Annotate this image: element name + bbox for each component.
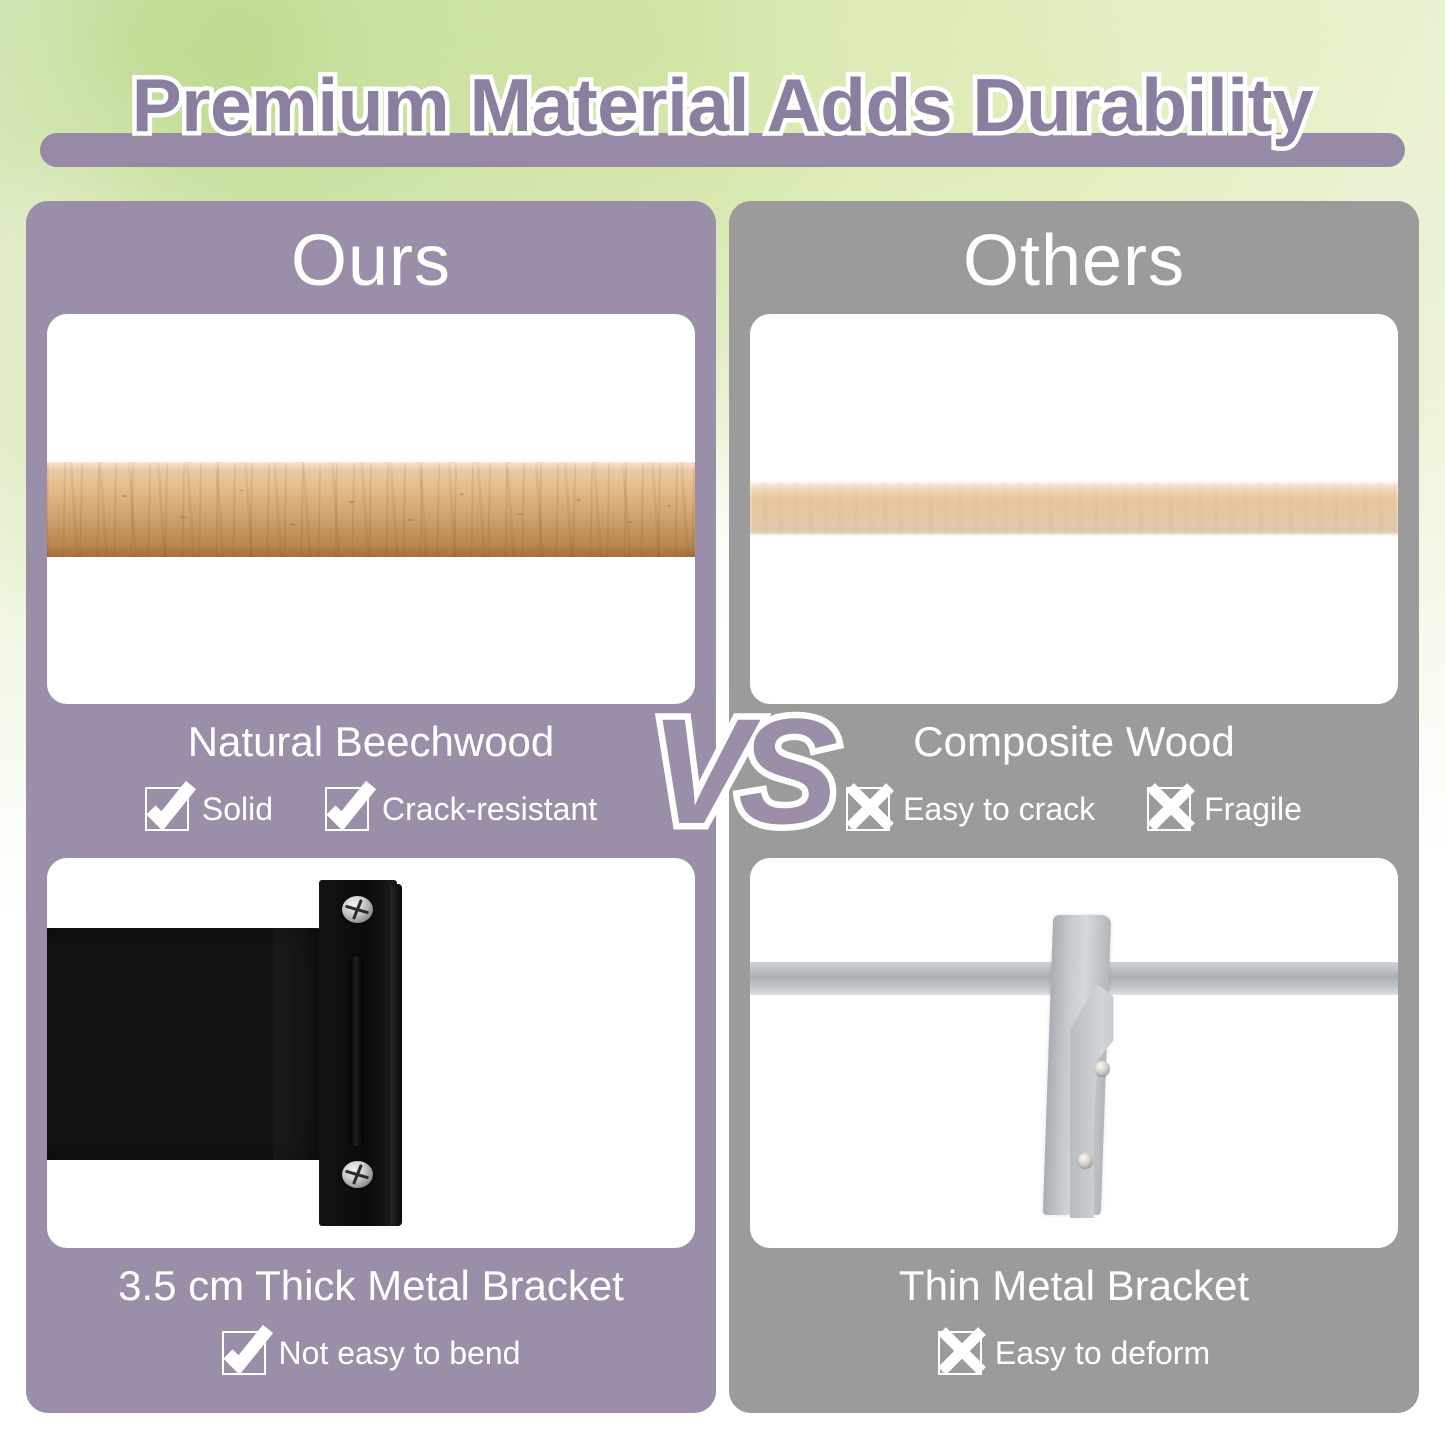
beechwood-rod-photo	[47, 462, 695, 557]
bracket-plate-edge	[390, 884, 402, 1226]
feature-item: Not easy to bend	[222, 1331, 521, 1375]
thin-bracket-curve	[1070, 978, 1140, 1218]
caption-bracket-ours: 3.5 cm Thick Metal Bracket	[26, 1261, 716, 1311]
cross-icon	[938, 1331, 982, 1375]
feature-label: Solid	[202, 790, 273, 828]
rivet-icon	[1095, 1061, 1110, 1076]
feature-list-material-others: Easy to crack Fragile	[729, 787, 1419, 831]
photo-card-black-bracket	[47, 858, 695, 1248]
check-icon	[325, 787, 369, 831]
feature-list-material-ours: Solid Crack-resistant	[26, 787, 716, 831]
screw-icon	[342, 896, 373, 923]
feature-item: Solid	[145, 787, 273, 831]
caption-material-ours: Natural Beechwood	[26, 717, 716, 767]
check-icon	[145, 787, 189, 831]
caption-material-others: Composite Wood	[729, 717, 1419, 767]
caption-bracket-others: Thin Metal Bracket	[729, 1261, 1419, 1311]
panel-title-ours: Ours	[26, 218, 716, 304]
feature-item: Fragile	[1147, 787, 1302, 831]
feature-item: Easy to deform	[938, 1331, 1210, 1375]
feature-label: Fragile	[1204, 790, 1302, 828]
page-title: Premium Material Adds Durability	[0, 62, 1445, 148]
feature-list-bracket-ours: Not easy to bend	[26, 1331, 716, 1375]
vs-badge: VS	[650, 676, 810, 866]
composite-wood-rod-photo	[750, 482, 1398, 534]
bracket-slot	[350, 956, 363, 1146]
check-icon	[222, 1331, 266, 1375]
screw-icon	[342, 1161, 373, 1188]
bracket-arm	[47, 928, 331, 1160]
feature-item: Easy to crack	[846, 787, 1095, 831]
feature-label: Not easy to bend	[279, 1334, 521, 1372]
comparison-panel-others: Others Composite Wood Easy to crack Frag…	[729, 201, 1419, 1413]
infographic-canvas: Premium Material Adds Durability Ours Na…	[0, 0, 1445, 1445]
feature-label: Crack-resistant	[382, 790, 597, 828]
feature-item: Crack-resistant	[325, 787, 597, 831]
feature-list-bracket-others: Easy to deform	[729, 1331, 1419, 1375]
rivet-icon	[1078, 1153, 1093, 1168]
photo-card-composite-rod	[750, 314, 1398, 704]
cross-icon	[1147, 787, 1191, 831]
feature-label: Easy to crack	[903, 790, 1095, 828]
photo-card-thin-bracket	[750, 858, 1398, 1248]
feature-label: Easy to deform	[995, 1334, 1210, 1372]
comparison-panel-ours: Ours Natural Beechwood Solid Crack-resis…	[26, 201, 716, 1413]
panel-title-others: Others	[729, 218, 1419, 304]
cross-icon	[846, 787, 890, 831]
photo-card-beechwood-rod	[47, 314, 695, 704]
